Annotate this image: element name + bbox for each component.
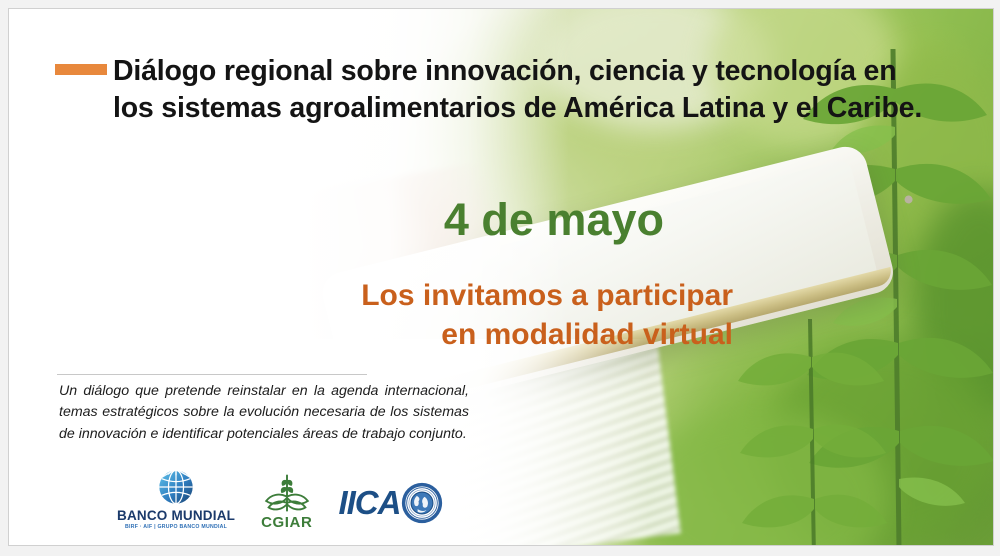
- cgiar-name: CGIAR: [261, 515, 312, 530]
- flyer-content: Diálogo regional sobre innovación, cienc…: [9, 9, 993, 545]
- globe-icon: [150, 467, 202, 507]
- iica-globe-seal-icon: [401, 482, 443, 524]
- invitation-line-2: en modalidad virtual: [9, 316, 733, 355]
- iica-wordmark: IICA: [338, 486, 400, 519]
- page-title: Diálogo regional sobre innovación, cienc…: [113, 53, 923, 127]
- wheat-leaf-icon: [263, 472, 311, 514]
- logo-strip: BANCO MUNDIAL BIRF · AIF | GRUPO BANCO M…: [117, 467, 443, 530]
- world-bank-name: BANCO MUNDIAL: [117, 509, 235, 523]
- logo-cgiar: CGIAR: [261, 472, 312, 530]
- divider: [57, 374, 367, 375]
- event-date: 4 de mayo: [9, 197, 664, 242]
- invitation-text: Los invitamos a participar en modalidad …: [9, 277, 733, 354]
- invitation-line-1: Los invitamos a participar: [9, 277, 733, 316]
- logo-iica: IICA: [338, 482, 443, 530]
- description-text: Un diálogo que pretende reinstalar en la…: [59, 381, 469, 445]
- flyer-canvas: Diálogo regional sobre innovación, cienc…: [0, 0, 1000, 556]
- accent-bar: [55, 64, 107, 75]
- flyer-frame: Diálogo regional sobre innovación, cienc…: [8, 8, 994, 546]
- logo-world-bank: BANCO MUNDIAL BIRF · AIF | GRUPO BANCO M…: [117, 467, 235, 530]
- world-bank-subtitle: BIRF · AIF | GRUPO BANCO MUNDIAL: [125, 525, 227, 530]
